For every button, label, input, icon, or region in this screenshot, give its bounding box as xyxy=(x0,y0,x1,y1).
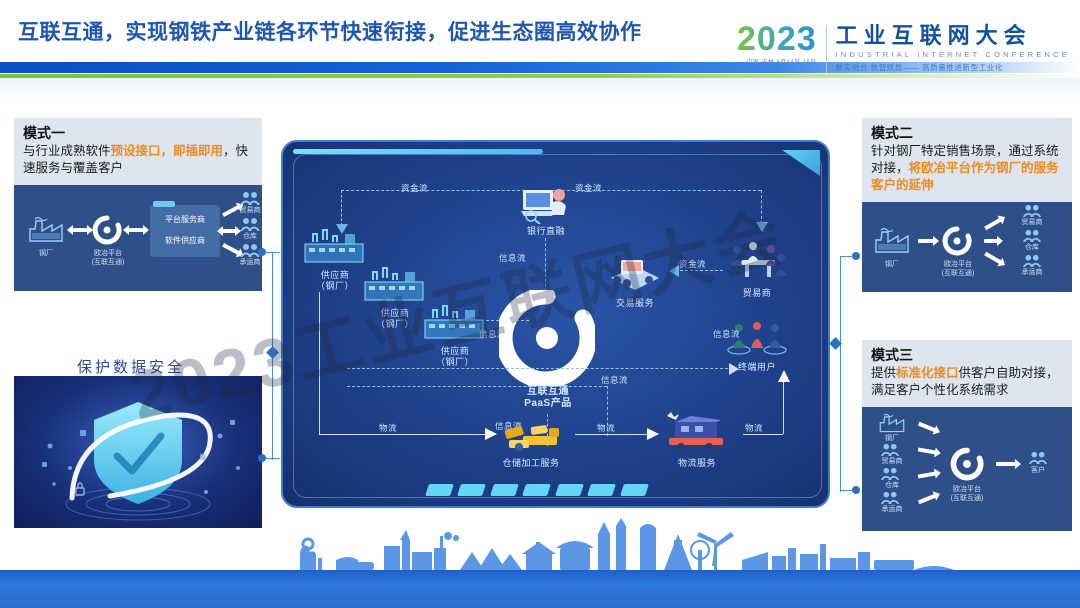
label-supplier-3: 供应商 xyxy=(413,346,497,357)
arrow-right-icon xyxy=(727,362,739,376)
logistics-line-3v xyxy=(783,378,784,434)
factory-icon xyxy=(361,262,427,306)
mode-one-diagram: 钢厂 欧冶平台 (互联互通) 平台服务商 软件供应商 xyxy=(14,185,262,291)
flow-label-logi-2: 物流 xyxy=(597,422,615,434)
connector-line-security xyxy=(266,458,280,459)
people-icon xyxy=(1022,254,1042,267)
mode-one-arrow-2 xyxy=(128,228,144,232)
label-logistics: 物流服务 xyxy=(655,458,739,469)
mode-three-card[interactable]: 模式三 提供标准化接口供客户自助对接，满足客户个性化系统需求 钢厂 贸易商 仓库 xyxy=(862,340,1072,531)
arrow-right-icon xyxy=(645,427,659,441)
mode-one-provider-box: 平台服务商 软件供应商 xyxy=(150,205,220,257)
mode-one-box-label-2: 软件供应商 xyxy=(150,235,220,246)
flow-line-info-bottom-2 xyxy=(347,386,607,387)
mode-three-left-label-1: 钢厂 xyxy=(872,434,912,443)
slide-root: 互联互通，实现钢铁产业链各环节快速衔接，促进生态圈高效协作 2023 中国·吉林… xyxy=(0,0,1080,608)
connector-dot-mode-three xyxy=(852,486,860,494)
connector-dot-security xyxy=(258,454,266,462)
mode-two-arrow-4 xyxy=(984,252,1002,264)
mode-two-right-label-3: 承运商 xyxy=(1014,268,1050,277)
flow-line-capital-down-right xyxy=(761,190,762,224)
mode-one-desc-highlight: 预设接口，即插即用 xyxy=(111,144,224,158)
logo-name-block: 工业互联网大会 INDUSTRIAL INTERNET CONFERENCE 数… xyxy=(827,24,1070,73)
mode-three-desc-1: 提供 xyxy=(871,366,896,380)
people-icon xyxy=(1022,204,1042,217)
logistics-line-v xyxy=(319,292,320,434)
mode-two-arrow-3 xyxy=(984,239,998,243)
mode-three-diagram: 钢厂 贸易商 仓库 承运商 欧 xyxy=(862,407,1072,531)
logo-year: 2023 xyxy=(737,24,817,54)
connector-line-mode-one xyxy=(266,252,280,253)
logistics-truck-icon xyxy=(661,410,733,454)
mode-three-left-label-4: 承运商 xyxy=(872,505,912,514)
core-platform-ring-icon xyxy=(499,290,595,386)
bottom-dash-deco xyxy=(427,484,647,496)
label-core-sub: PaaS产品 xyxy=(507,398,589,409)
mode-three-arrow-5 xyxy=(996,462,1016,466)
mode-one-right-label-1: 贸易商 xyxy=(232,206,262,215)
logo-year-block: 2023 中国·吉林 8月14日-18日 xyxy=(737,24,826,66)
mode-one-title: 模式一 xyxy=(23,125,253,142)
trade-service-icon xyxy=(605,252,665,296)
mode-one-platform-label: 欧冶平台 xyxy=(88,249,128,258)
center-diagram-panel: 资金流 资金流 银行直融 信息流 xyxy=(281,140,830,508)
warehouse-processing-icon xyxy=(497,414,563,454)
page-title: 互联互通，实现钢铁产业链各环节快速衔接，促进生态圈高效协作 xyxy=(18,16,642,46)
arrow-up-icon xyxy=(777,370,791,382)
security-title: 保护数据安全 xyxy=(0,356,262,377)
mode-one-factory-label: 钢厂 xyxy=(26,249,66,258)
platform-ring-icon xyxy=(92,215,122,245)
label-core: 互联互通 xyxy=(507,386,589,397)
mode-two-platform-label: 欧冶平台 xyxy=(938,260,978,269)
label-bank: 银行直融 xyxy=(511,226,581,237)
mode-three-header: 模式三 提供标准化接口供客户自助对接，满足客户个性化系统需求 xyxy=(862,340,1072,407)
people-icon xyxy=(240,217,260,231)
trader-icon xyxy=(727,238,787,284)
label-supplier-3-sub: （钢厂） xyxy=(413,357,497,368)
mode-one-platform-sublabel: (互联互通) xyxy=(88,258,128,267)
security-image xyxy=(14,376,262,528)
arrow-down-icon xyxy=(755,220,769,232)
mode-three-platform-sublabel: (互联互通) xyxy=(944,494,990,503)
mode-three-left-label-2: 贸易商 xyxy=(872,457,912,466)
flow-label-info-4: 信息流 xyxy=(601,374,628,386)
mode-three-arrow-2 xyxy=(918,447,936,454)
logo-name-en: INDUSTRIAL INTERNET CONFERENCE xyxy=(836,50,1070,59)
flow-line-info-bank xyxy=(545,238,546,292)
people-icon xyxy=(880,491,900,504)
mode-two-factory-label: 钢厂 xyxy=(872,260,912,269)
city-skyline-decoration xyxy=(0,518,1080,570)
factory-icon xyxy=(301,224,367,268)
connector-diamond-left xyxy=(266,346,279,359)
mode-two-card[interactable]: 模式二 针对钢厂特定销售场景，通过系统对接，将欧冶平台作为钢厂的服务客户的延伸 … xyxy=(862,118,1072,292)
arrow-right-icon xyxy=(483,427,497,441)
factory-icon xyxy=(876,411,908,433)
logo-slogan: 数实融合 数智赋能—— 高质量推进新型工业化 xyxy=(836,62,1070,73)
flow-label-info-1: 信息流 xyxy=(499,252,526,264)
mode-two-title: 模式二 xyxy=(871,125,1063,142)
flow-label-logi-1: 物流 xyxy=(379,422,397,434)
logistics-line-3 xyxy=(743,434,783,435)
mode-two-arrow-1 xyxy=(918,239,934,243)
factory-icon xyxy=(421,300,487,344)
mode-two-right-label-2: 仓库 xyxy=(1014,243,1050,252)
connector-dot-mode-one xyxy=(258,248,266,256)
logo-name-cn: 工业互联网大会 xyxy=(836,24,1070,48)
flow-label-capital-right: 资金流 xyxy=(575,182,602,194)
flow-label-logi-3: 物流 xyxy=(745,422,763,434)
people-icon xyxy=(880,443,900,456)
mode-two-diagram: 钢厂 欧冶平台 (互联互通) 贸易商 仓库 xyxy=(862,202,1072,292)
mode-one-header: 模式一 与行业成熟软件预设接口，即插即用，快速服务与覆盖客户 xyxy=(14,118,262,185)
logistics-line-1 xyxy=(319,434,489,435)
mode-three-left-label-3: 仓库 xyxy=(872,481,912,490)
platform-ring-icon xyxy=(942,226,972,256)
mode-two-platform-sublabel: (互联互通) xyxy=(938,269,978,278)
connector-line-mode-two xyxy=(840,256,854,257)
flow-label-capital-top: 资金流 xyxy=(401,182,428,194)
bank-finance-icon xyxy=(519,180,573,224)
people-icon xyxy=(240,191,260,205)
bottom-blue-band xyxy=(0,570,1080,608)
mode-one-right-label-3: 承运商 xyxy=(232,258,262,267)
mode-one-arrow-1 xyxy=(72,228,88,232)
connector-line-right-v xyxy=(840,256,841,492)
logo-date: 中国·吉林 8月14日-18日 xyxy=(737,57,817,66)
mode-one-arrow-5 xyxy=(222,243,240,255)
mode-two-arrow-2 xyxy=(984,218,1002,230)
header-glow xyxy=(0,78,1080,104)
label-warehouse: 仓储加工服务 xyxy=(489,458,573,469)
mode-one-right-label-2: 仓库 xyxy=(232,232,262,241)
box-tab-icon xyxy=(153,201,175,207)
mode-one-desc-1: 与行业成熟软件 xyxy=(23,144,111,158)
flow-label-info-5: 信息流 xyxy=(713,328,740,340)
mode-three-title: 模式三 xyxy=(871,347,1063,364)
mode-three-arrow-3 xyxy=(918,471,936,478)
flow-line-capital-down-left xyxy=(341,190,342,226)
flow-line-capital-mid xyxy=(675,270,723,271)
mode-two-right-label-1: 贸易商 xyxy=(1014,218,1050,227)
people-icon xyxy=(1028,451,1048,464)
shield-illustration xyxy=(14,376,262,528)
label-trade-service: 交易服务 xyxy=(599,298,671,309)
conference-logo: 2023 中国·吉林 8月14日-18日 工业互联网大会 INDUSTRIAL … xyxy=(737,24,1070,73)
flow-line-info-bottom xyxy=(347,368,733,369)
factory-icon xyxy=(26,213,66,243)
mode-two-header: 模式二 针对钢厂特定销售场景，通过系统对接，将欧冶平台作为钢厂的服务客户的延伸 xyxy=(862,118,1072,202)
label-trader: 贸易商 xyxy=(721,288,793,299)
logistics-line-2 xyxy=(575,434,651,435)
mode-three-arrow-1 xyxy=(918,422,936,432)
platform-ring-icon xyxy=(950,447,984,481)
flow-label-capital-mid: 资金流 xyxy=(679,258,706,270)
mode-one-box-label-1: 平台服务商 xyxy=(150,214,220,225)
mode-three-desc-highlight: 标准化接口 xyxy=(896,366,959,380)
people-icon xyxy=(1022,229,1042,242)
mode-three-platform-label: 欧冶平台 xyxy=(944,485,990,494)
factory-icon xyxy=(872,224,912,254)
mode-one-card[interactable]: 模式一 与行业成熟软件预设接口，即插即用，快速服务与覆盖客户 钢厂 欧冶平台 (… xyxy=(14,118,262,291)
mode-three-right-label-1: 客户 xyxy=(1020,466,1056,475)
people-icon xyxy=(880,467,900,480)
people-icon xyxy=(240,243,260,257)
mode-three-arrow-4 xyxy=(918,494,936,504)
